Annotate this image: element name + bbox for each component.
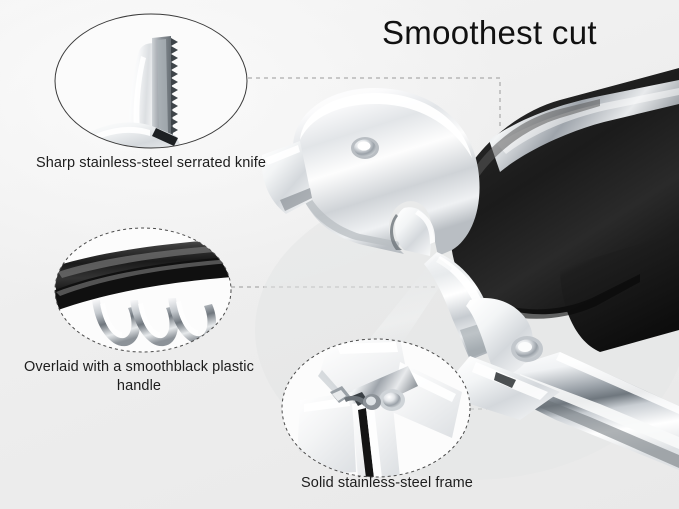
callout-plastic-handle[interactable] bbox=[50, 228, 246, 352]
callout-caption-serrated-knife: Sharp stainless-steel serrated knife bbox=[33, 154, 269, 173]
callout-caption-plastic-handle: Overlaid with a smoothblack plastic hand… bbox=[3, 358, 275, 396]
page-title: Smoothest cut bbox=[382, 12, 672, 54]
product-artwork bbox=[0, 0, 679, 509]
callout-steel-frame[interactable] bbox=[282, 338, 470, 478]
callout-serrated-knife[interactable] bbox=[55, 14, 247, 160]
callout-caption-steel-frame: Solid stainless-steel frame bbox=[242, 474, 532, 493]
product-head-eyelet bbox=[351, 137, 379, 159]
infographic-canvas: Smoothest cut Sharp stainless-steel serr… bbox=[0, 0, 679, 509]
